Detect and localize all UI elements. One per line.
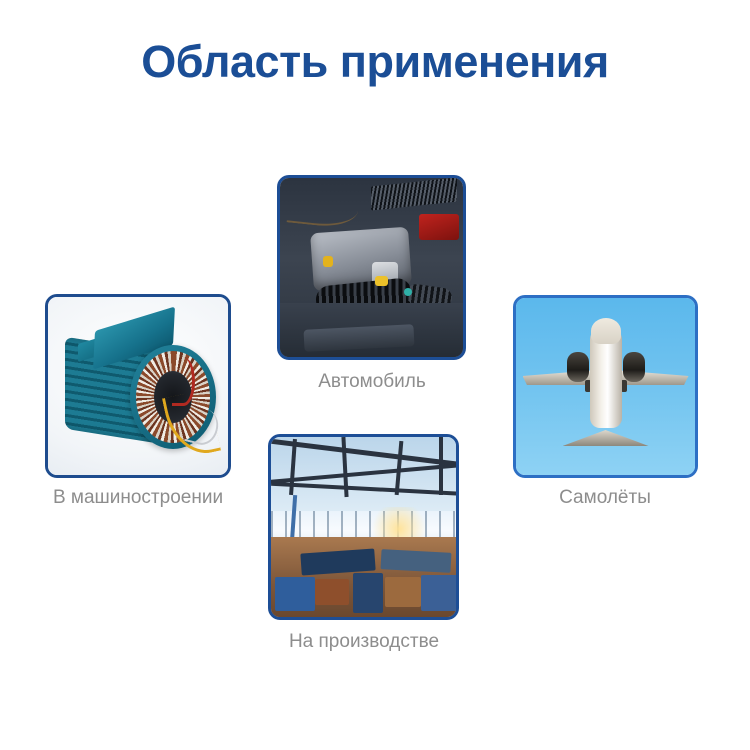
factory-machine <box>275 577 315 611</box>
airplane-engine-right <box>623 352 645 382</box>
airplane-tailplane <box>563 430 649 446</box>
factory-machine <box>353 573 383 613</box>
factory-machine <box>385 577 421 607</box>
caption-plane: Самолёты <box>480 487 730 510</box>
card-car[interactable] <box>277 175 466 360</box>
card-motor[interactable] <box>45 294 231 478</box>
engine-battery <box>419 214 459 240</box>
engine-wire <box>287 190 360 229</box>
caption-motor: В машиностроении <box>0 487 276 510</box>
airplane-shape <box>521 318 691 448</box>
engine-grille <box>371 178 457 211</box>
factory-truss <box>439 437 443 495</box>
engine-yellow-cap-2 <box>375 276 388 286</box>
factory-truss <box>271 482 456 496</box>
page-title: Область применения <box>0 36 750 88</box>
caption-factory: На производстве <box>264 631 464 654</box>
factory-machine <box>421 575 456 611</box>
factory-machine <box>381 549 452 573</box>
photo-electric-motor <box>48 297 228 475</box>
engine-yellow-cap-1 <box>323 256 333 267</box>
photo-airplane <box>516 298 695 475</box>
airplane-engine-left <box>567 352 589 382</box>
slide-canvas: Область применения Автомобиль <box>0 0 750 750</box>
factory-machine <box>315 579 349 605</box>
airplane-nose <box>591 318 621 344</box>
engine-teal-cap <box>404 288 412 296</box>
factory-roof <box>271 437 456 515</box>
card-factory[interactable] <box>268 434 459 620</box>
card-plane[interactable] <box>513 295 698 478</box>
factory-truss <box>271 461 456 484</box>
photo-car-engine <box>280 178 463 357</box>
photo-factory <box>271 437 456 617</box>
caption-car: Автомобиль <box>272 371 472 394</box>
factory-truss <box>271 438 456 470</box>
